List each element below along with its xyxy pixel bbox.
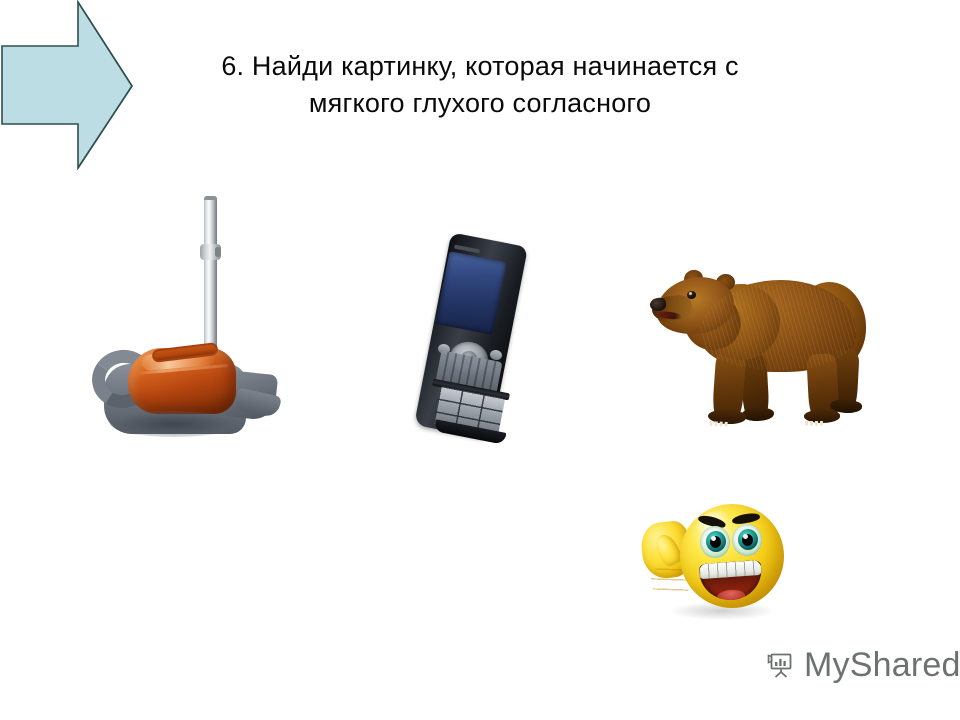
presentation-board-icon bbox=[766, 650, 796, 680]
smiley-thumbs-up-icon bbox=[640, 498, 808, 626]
vacuum-tube-joint bbox=[200, 244, 221, 260]
bear-claws bbox=[709, 421, 727, 427]
bear-paw-front-far bbox=[742, 407, 774, 421]
picture-mobile-phone[interactable] bbox=[418, 238, 536, 442]
smiley-eye-highlight-left bbox=[711, 536, 716, 541]
page-title-line-2: мягкого глухого согласного bbox=[60, 85, 900, 122]
bear-paw-front-near bbox=[708, 409, 747, 425]
bear-eye bbox=[687, 291, 696, 299]
bear-claws bbox=[805, 421, 823, 426]
page-title-line-1: 6. Найди картинку, которая начинается с bbox=[60, 48, 900, 85]
watermark: MyShared bbox=[766, 648, 960, 682]
vacuum-ground-shadow bbox=[110, 411, 238, 437]
page-title: 6. Найди картинку, которая начинается с … bbox=[60, 48, 900, 122]
picture-bear[interactable] bbox=[646, 258, 870, 444]
watermark-text: MyShared bbox=[804, 648, 960, 682]
smiley-teeth bbox=[699, 560, 762, 579]
vacuum-tube-top bbox=[204, 196, 217, 200]
slide-canvas: 6. Найди картинку, которая начинается с … bbox=[0, 0, 960, 720]
bear-paw-hind-near bbox=[804, 410, 840, 423]
picture-vacuum-cleaner[interactable] bbox=[86, 196, 286, 440]
smiley-eye-highlight-right bbox=[743, 534, 748, 539]
